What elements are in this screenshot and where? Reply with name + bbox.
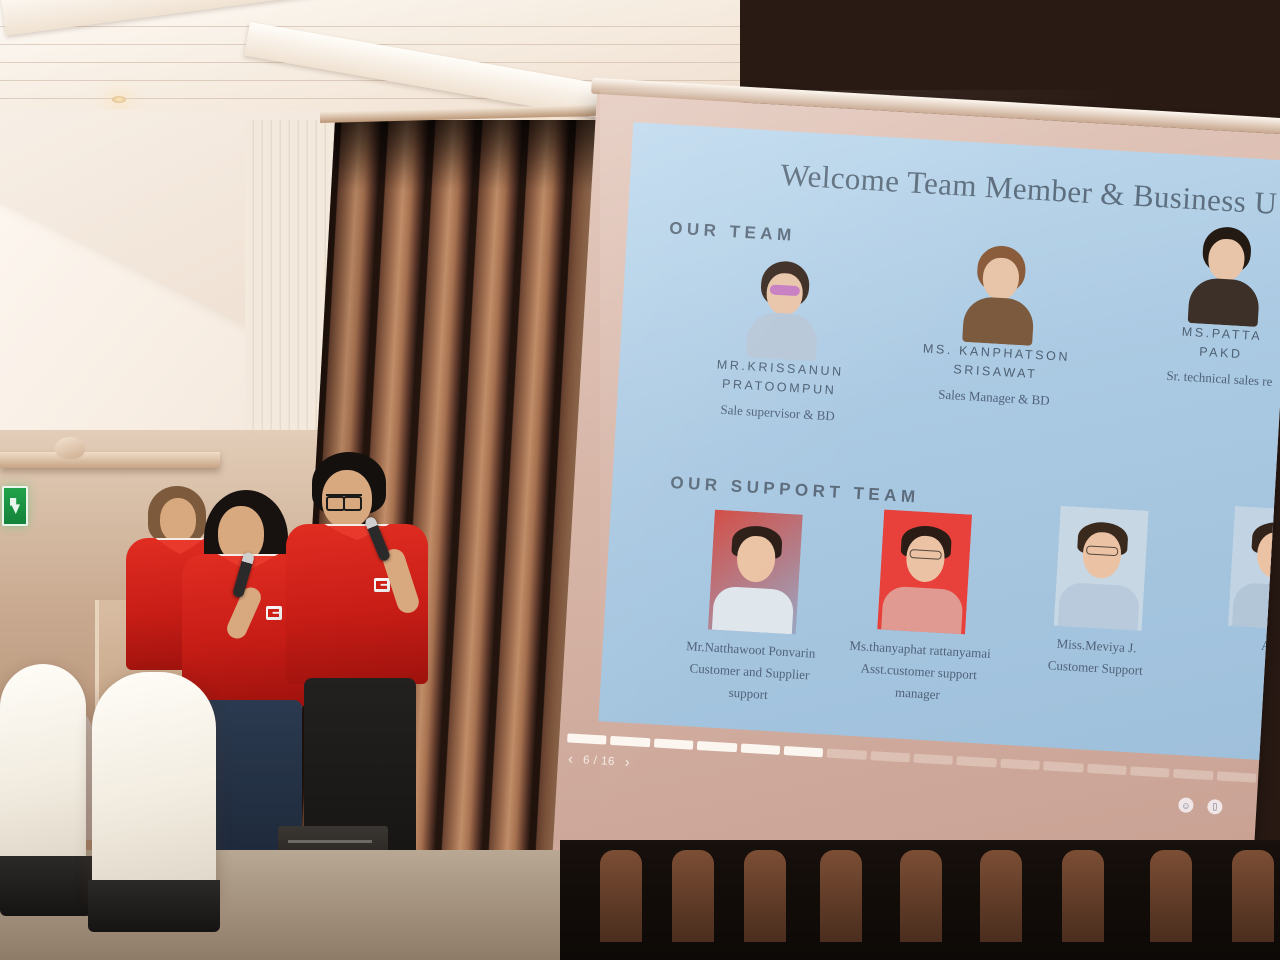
member-portrait (1184, 223, 1268, 327)
decor-vase (55, 437, 85, 459)
member-portrait (958, 242, 1042, 346)
slide-title: Welcome Team Member & Business U (780, 157, 1280, 228)
stage-drape (1150, 850, 1192, 942)
member-role: Sales Manager & BD (894, 383, 1095, 411)
support-member: Miss.Meviya J. Customer Support (1010, 503, 1190, 681)
team-member: MS.PATTA PAKD Sr. technical sales re (1119, 219, 1280, 392)
wall-shelf (0, 452, 220, 468)
support-role-line1: Customer Support (1010, 655, 1181, 681)
support-photo (708, 510, 803, 635)
glasses-icon (326, 494, 362, 505)
support-photo (1228, 506, 1280, 631)
section-label-our-team: OUR TEAM (669, 218, 797, 245)
support-photo (1054, 506, 1149, 631)
presentation-room-scene: Welcome Team Member & Business U OUR TEA… (0, 0, 1280, 960)
banquet-chair (0, 664, 86, 874)
support-role-line2: support (658, 681, 839, 707)
team-member: MS. KANPHATSON SRISAWAT Sales Manager & … (894, 238, 1103, 411)
support-name: Miss.Meviya J. (1011, 633, 1182, 659)
team-member: MR.KRISSANUN PRATOOMPUN Sale supervisor … (682, 254, 881, 426)
curtain-shadow (335, 120, 610, 190)
support-photo (877, 509, 972, 634)
next-slide-button[interactable]: › (624, 755, 630, 770)
banquet-chair (92, 672, 216, 900)
member-role: Sale supervisor & BD (682, 399, 873, 426)
projection-screen: Welcome Team Member & Business U OUR TEA… (551, 94, 1280, 924)
section-label-our-support-team: OUR SUPPORT TEAM (670, 473, 920, 508)
exit-sign (2, 486, 28, 526)
stage-drape (820, 850, 862, 942)
support-role-line2: manager (822, 680, 1013, 707)
prev-slide-button[interactable]: ‹ (568, 751, 574, 766)
support-role-line1: Ass (1196, 634, 1280, 659)
company-logo (374, 578, 390, 592)
support-member: Ms.thanyaphat rattanyamai Asst.customer … (822, 507, 1023, 708)
stage-drape (672, 850, 714, 942)
viewer-corner-controls: ☺ ▯ (1178, 797, 1223, 815)
stage-drape (900, 850, 942, 942)
lock-icon[interactable]: ▯ (1207, 799, 1223, 815)
page-count-label: 6 / 16 (583, 754, 615, 768)
support-member: Mr.Natthawoot Ponvarin Customer and Supp… (658, 507, 849, 707)
support-member: Ass (1196, 504, 1280, 659)
stage-drape (980, 850, 1022, 942)
slide-canvas: Welcome Team Member & Business U OUR TEA… (598, 122, 1280, 760)
ceiling-downlight-icon (112, 96, 126, 103)
company-logo (266, 606, 282, 620)
member-portrait (742, 257, 826, 361)
stage-drape (600, 850, 642, 942)
stage-drape (1232, 850, 1274, 942)
chair-skirt (88, 880, 220, 932)
chair-skirt (0, 856, 92, 916)
stage-drape (744, 850, 786, 942)
stage-drape (1062, 850, 1104, 942)
smiley-icon[interactable]: ☺ (1178, 797, 1194, 813)
support-name: Mr.Natthawoot Ponvarin (660, 637, 841, 663)
support-role-line1: Customer and Supplier (659, 659, 840, 685)
member-role: Sr. technical sales re (1119, 365, 1280, 393)
